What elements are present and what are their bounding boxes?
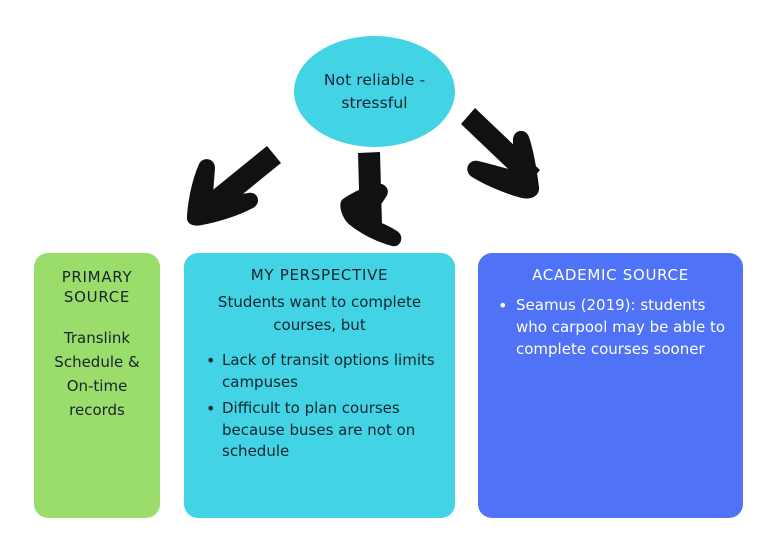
box-primary-source-body: Translink Schedule & On-time records	[42, 326, 152, 422]
box-primary-source-title-line1: PRIMARY	[62, 268, 133, 286]
box-primary-source-body-line1: Translink	[64, 329, 130, 347]
node-not-reliable-stressful[interactable]: Not reliable - stressful	[294, 36, 455, 147]
node-label-line2: stressful	[341, 94, 407, 112]
box-academic-source-bullet-list: Seamus (2019): students who carpool may …	[492, 295, 729, 360]
box-my-perspective-lead: Students want to complete courses, but	[198, 291, 441, 336]
box-primary-source[interactable]: PRIMARY SOURCE Translink Schedule & On-t…	[34, 253, 160, 518]
diagram-canvas: Not reliable - stressful PRIMARY SOURCE …	[0, 0, 768, 543]
box-primary-source-title-line2: SOURCE	[64, 288, 130, 306]
box-my-perspective-title: MY PERSPECTIVE	[198, 265, 441, 285]
box-academic-source[interactable]: ACADEMIC SOURCE Seamus (2019): students …	[478, 253, 743, 518]
node-label: Not reliable - stressful	[324, 69, 425, 114]
arrow-to-primary-source-icon	[187, 146, 281, 226]
box-primary-source-title: PRIMARY SOURCE	[42, 267, 152, 308]
box-academic-source-title: ACADEMIC SOURCE	[492, 265, 729, 285]
box-primary-source-body-line2: Schedule &	[54, 353, 139, 371]
arrow-to-my-perspective-icon	[340, 152, 401, 246]
arrow-to-academic-source-icon	[461, 108, 540, 199]
box-my-perspective[interactable]: MY PERSPECTIVE Students want to complete…	[184, 253, 455, 518]
list-item: Seamus (2019): students who carpool may …	[496, 295, 729, 360]
box-primary-source-body-line4: records	[69, 401, 125, 419]
box-primary-source-body-line3: On-time	[67, 377, 128, 395]
box-my-perspective-bullet-list: Lack of transit options limits campuses …	[198, 350, 441, 463]
node-label-line1: Not reliable -	[324, 71, 425, 89]
list-item: Difficult to plan courses because buses …	[204, 398, 441, 463]
list-item: Lack of transit options limits campuses	[204, 350, 441, 394]
